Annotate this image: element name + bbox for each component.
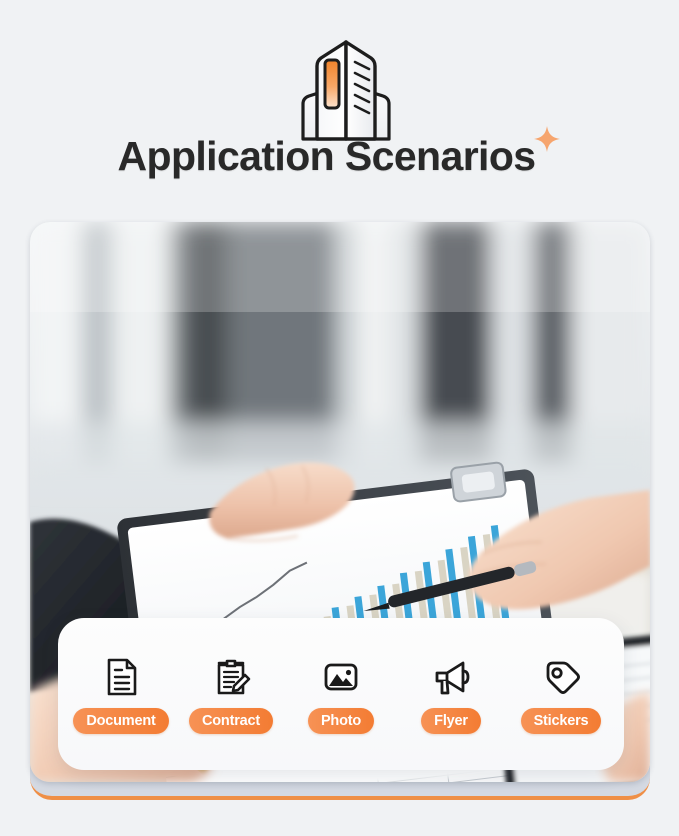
- clipboard-pencil-icon: [209, 655, 253, 699]
- building-icon: [291, 38, 401, 143]
- page-title-row: Application Scenarios: [0, 130, 679, 182]
- page-header: Application Scenarios: [0, 0, 679, 205]
- badge-photo[interactable]: Photo: [289, 655, 393, 734]
- badge-label-contract: Contract: [189, 708, 273, 734]
- badge-label-photo: Photo: [308, 708, 374, 734]
- price-tag-icon: [539, 655, 583, 699]
- application-scenarios-page: Application Scenarios: [0, 0, 679, 836]
- badge-stickers[interactable]: Stickers: [509, 655, 613, 734]
- badge-flyer[interactable]: Flyer: [399, 655, 503, 734]
- badge-label-flyer: Flyer: [421, 708, 481, 734]
- image-icon: [319, 655, 363, 699]
- page-title: Application Scenarios: [117, 130, 535, 182]
- sparkle-icon: [532, 124, 562, 154]
- document-icon: [99, 655, 143, 699]
- badge-contract[interactable]: Contract: [179, 655, 283, 734]
- category-badge-list: Document: [58, 618, 624, 770]
- badge-label-document: Document: [73, 708, 168, 734]
- badge-label-stickers: Stickers: [521, 708, 602, 734]
- category-badge-panel: Document: [58, 618, 624, 770]
- badge-document[interactable]: Document: [69, 655, 173, 734]
- megaphone-icon: [429, 655, 473, 699]
